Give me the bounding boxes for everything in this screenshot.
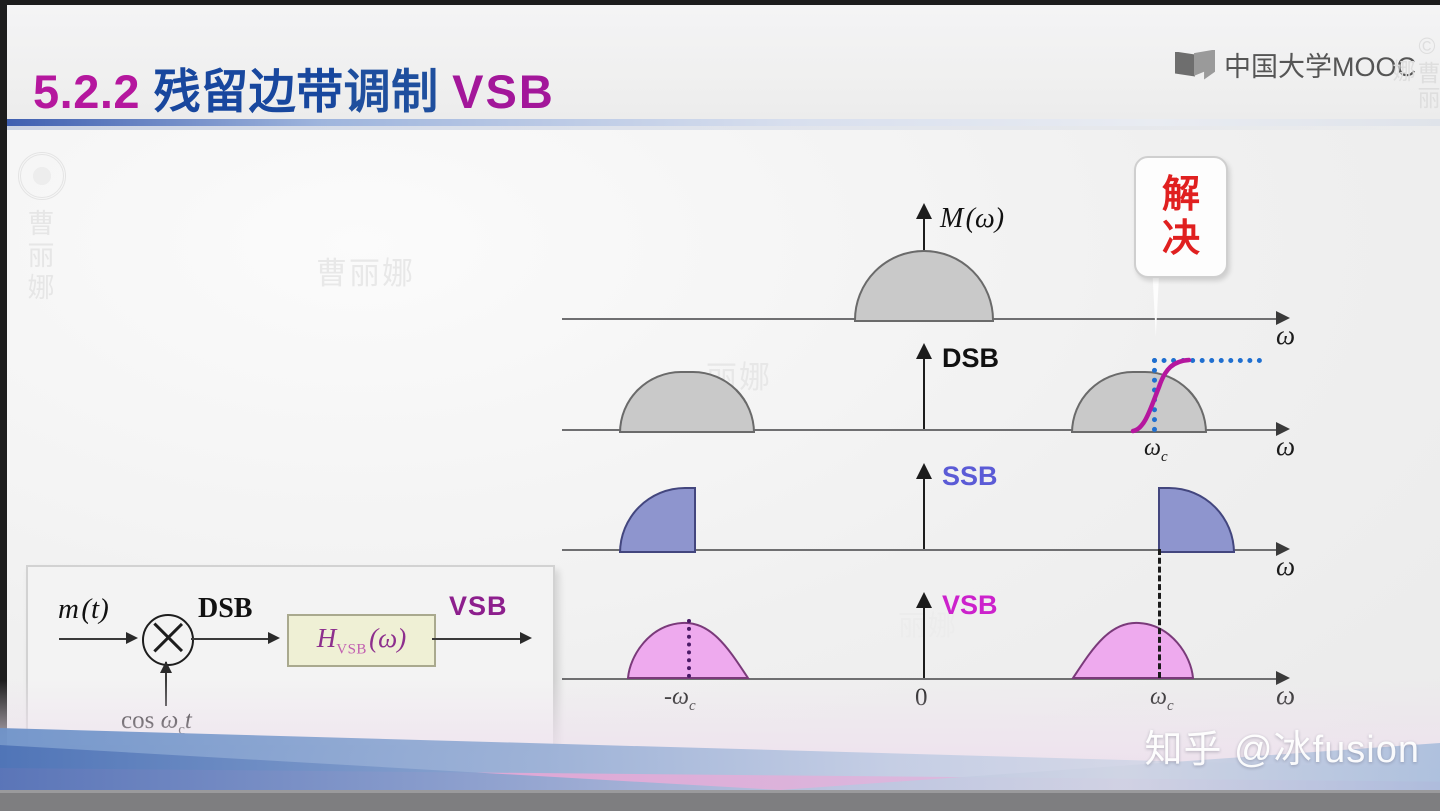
title-acronym: VSB xyxy=(452,65,555,118)
callout-line-1: 解 xyxy=(1162,173,1200,217)
title-cn-bold: 残留边带 xyxy=(154,65,344,118)
vsb-lobe-negative xyxy=(620,615,795,680)
hvsb-filter-label: HVSB (ω) xyxy=(317,623,407,658)
title-underline-shadow xyxy=(7,126,1440,130)
book-icon xyxy=(1175,50,1215,80)
ssb-label: SSB xyxy=(942,461,998,492)
dsb-axis-label: ω xyxy=(1276,431,1295,462)
page-title: 5.2.2 残留边带调制 VSB xyxy=(33,53,555,122)
dsb-vaxis xyxy=(923,357,925,429)
ssb-vaxis xyxy=(923,477,925,549)
dsb-tick-omega-c: ωc xyxy=(1144,435,1168,466)
watermark-top-right: ©曹丽娜 xyxy=(1405,23,1439,120)
dsb-vsb-rolloff-curve xyxy=(1115,351,1235,437)
vsb-label: VSB xyxy=(942,590,998,621)
vsb-guide-omega-c xyxy=(1158,549,1161,678)
seal-icon xyxy=(18,152,66,200)
block-input-arrow xyxy=(126,632,138,644)
title-cn-light: 调制 xyxy=(344,65,439,118)
callout-solution-bubble: 解 决 xyxy=(1134,156,1228,278)
dsb-label: DSB xyxy=(942,343,999,374)
watermark-author-left: 曹丽娜 xyxy=(18,152,64,304)
vsb-vaxis xyxy=(923,606,925,678)
ssb-lobe-positive xyxy=(1158,487,1235,553)
block-input-wire xyxy=(59,638,127,640)
baseband-axis-label: ω xyxy=(1276,320,1295,351)
slide-canvas: 5.2.2 残留边带调制 VSB 中国大学MOOC ©曹丽娜 曹丽娜 曹丽娜 丽… xyxy=(0,0,1440,811)
vsb-lobe-positive xyxy=(1065,615,1240,680)
block-dsb-wire xyxy=(191,638,269,640)
block-carrier-arrow xyxy=(160,661,172,673)
title-section-number-last: 2 xyxy=(113,65,140,118)
vsb-vaxis-arrow xyxy=(916,592,932,608)
baseband-label: M (ω) xyxy=(940,203,1004,235)
ssb-vaxis-arrow xyxy=(916,463,932,479)
block-dsb-label: DSB xyxy=(198,593,252,625)
baseband-vaxis-arrow xyxy=(916,203,932,219)
watermark-zhihu: 知乎 @冰fusion xyxy=(1144,718,1420,773)
dsb-lobe-negative xyxy=(619,371,755,433)
block-output-arrow xyxy=(520,632,532,644)
multiply-circle-icon xyxy=(142,614,194,666)
slide-header: 5.2.2 残留边带调制 VSB 中国大学MOOC ©曹丽娜 xyxy=(7,5,1440,120)
block-input-label: m (t) xyxy=(58,593,109,626)
ssb-lobe-negative xyxy=(619,487,696,553)
watermark-author-name: 曹丽娜 xyxy=(18,208,64,304)
title-section-number: 5.2. xyxy=(33,65,113,118)
dsb-vaxis-arrow xyxy=(916,343,932,359)
ssb-axis-label: ω xyxy=(1276,551,1295,582)
title-underline-rule xyxy=(7,119,1440,126)
mooc-brand-logo: 中国大学MOOC xyxy=(1175,45,1416,84)
mooc-brand-label: 中国大学MOOC xyxy=(1224,45,1416,84)
watermark-center-1: 曹丽娜 xyxy=(316,248,415,293)
hvsb-filter-box: HVSB (ω) xyxy=(287,614,436,667)
callout-line-2: 决 xyxy=(1162,217,1200,261)
vsb-guide-minus-omega-c xyxy=(687,619,691,678)
block-dsb-arrow xyxy=(268,632,280,644)
block-output-wire xyxy=(432,638,522,640)
frame-bottom-edge xyxy=(0,793,1440,811)
baseband-lobe xyxy=(854,250,994,322)
block-output-label: VSB xyxy=(449,591,508,622)
